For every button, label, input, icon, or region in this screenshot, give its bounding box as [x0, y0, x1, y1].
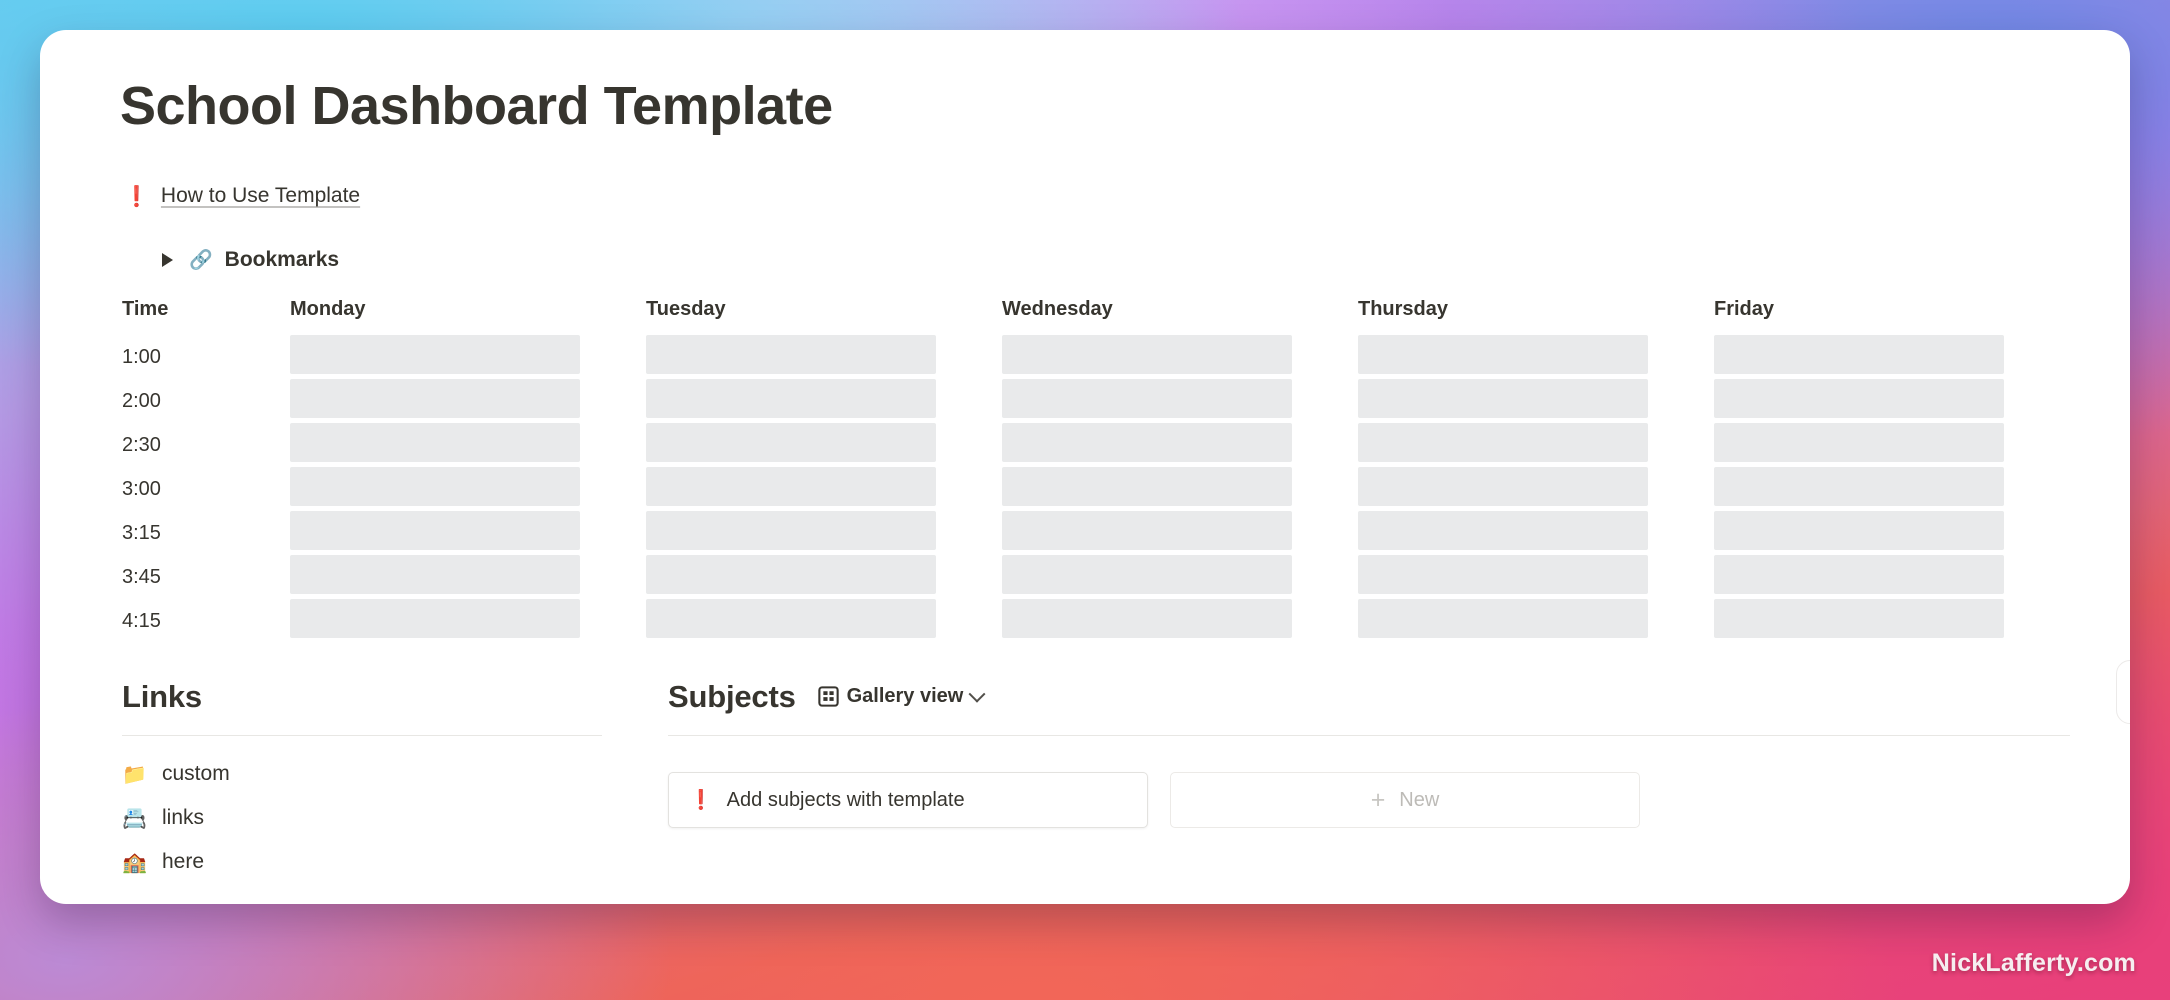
how-to-use-template-row[interactable]: ❗ How to Use Template	[124, 184, 2070, 208]
schedule-header-tuesday: Tuesday	[646, 298, 1002, 335]
schedule-time-label: 3:00	[122, 467, 290, 511]
schedule-time-label: 1:00	[122, 335, 290, 379]
schedule-cell[interactable]	[1358, 467, 1714, 511]
triangle-right-icon[interactable]	[162, 253, 173, 267]
schedule-time-label: 2:00	[122, 379, 290, 423]
schedule-cell[interactable]	[646, 379, 1002, 423]
schedule-table: TimeMondayTuesdayWednesdayThursdayFriday…	[122, 298, 2070, 643]
add-subjects-with-template-label: Add subjects with template	[727, 789, 965, 812]
schedule-time-label: 4:15	[122, 599, 290, 643]
schedule-header-monday: Monday	[290, 298, 646, 335]
schedule-time-label: 3:45	[122, 555, 290, 599]
folder-emoji: 📁	[122, 764, 146, 784]
link-emoji: 🔗	[189, 251, 213, 270]
exclamation-mark-emoji: ❗	[124, 186, 149, 206]
schedule-cell[interactable]	[1714, 423, 2070, 467]
new-subject-button[interactable]: + New	[1170, 772, 1640, 828]
schedule-cell[interactable]	[290, 467, 646, 511]
schedule-cell[interactable]	[290, 379, 646, 423]
schedule-cell[interactable]	[1714, 511, 2070, 555]
schedule-cell[interactable]	[1002, 467, 1358, 511]
schedule-cell[interactable]	[1002, 555, 1358, 599]
page-title: School Dashboard Template	[120, 66, 2070, 136]
schedule-cell[interactable]	[290, 423, 646, 467]
schedule-cell[interactable]	[1714, 467, 2070, 511]
bookmarks-toggle-row[interactable]: 🔗 Bookmarks	[162, 248, 2070, 272]
edge-control-nub[interactable]	[2116, 660, 2130, 724]
gallery-view-selector[interactable]: Gallery view	[814, 683, 988, 710]
schedule-header-wednesday: Wednesday	[1002, 298, 1358, 335]
schedule-cell[interactable]	[1714, 555, 2070, 599]
links-list: 📁custom📇links🏫here	[122, 752, 602, 884]
watermark: NickLafferty.com	[1932, 949, 2136, 978]
bookmarks-label: Bookmarks	[225, 248, 339, 272]
schedule-cell[interactable]	[1714, 379, 2070, 423]
how-to-use-template-link[interactable]: How to Use Template	[161, 184, 360, 208]
schedule-cell[interactable]	[1358, 511, 1714, 555]
subjects-divider	[668, 735, 2070, 736]
link-list-item[interactable]: 📇links	[122, 796, 602, 840]
chevron-down-icon[interactable]	[969, 686, 986, 703]
link-list-item-label: links	[162, 806, 204, 830]
schedule-cell[interactable]	[1358, 379, 1714, 423]
link-list-item[interactable]: 📁custom	[122, 752, 602, 796]
schedule-cell[interactable]	[1002, 423, 1358, 467]
link-list-item-label: here	[162, 850, 204, 874]
subjects-cards-row: ❗ Add subjects with template + New	[668, 772, 2070, 828]
schedule-cell[interactable]	[1714, 335, 2070, 379]
gallery-grid-icon	[818, 686, 839, 707]
schedule-cell[interactable]	[290, 555, 646, 599]
schedule-time-label: 3:15	[122, 511, 290, 555]
links-heading: Links	[122, 679, 602, 715]
schedule-cell[interactable]	[646, 555, 1002, 599]
schedule-cell[interactable]	[646, 467, 1002, 511]
schedule-cell[interactable]	[646, 511, 1002, 555]
schedule-cell[interactable]	[1002, 511, 1358, 555]
schedule-cell[interactable]	[290, 599, 646, 643]
schedule-cell[interactable]	[1002, 335, 1358, 379]
schedule-header-friday: Friday	[1714, 298, 2070, 335]
link-list-item-label: custom	[162, 762, 230, 786]
schedule-cell[interactable]	[1358, 335, 1714, 379]
gallery-view-label: Gallery view	[847, 685, 964, 708]
schedule-cell[interactable]	[1002, 379, 1358, 423]
schedule-cell[interactable]	[1358, 423, 1714, 467]
schedule-cell[interactable]	[1002, 599, 1358, 643]
schedule-cell[interactable]	[1358, 599, 1714, 643]
exclamation-mark-emoji: ❗	[689, 791, 713, 810]
schedule-cell[interactable]	[646, 599, 1002, 643]
schedule-header-thursday: Thursday	[1358, 298, 1714, 335]
schedule-cell[interactable]	[1714, 599, 2070, 643]
schedule-time-label: 2:30	[122, 423, 290, 467]
new-subject-label: New	[1399, 789, 1439, 812]
card-index-emoji: 📇	[122, 808, 146, 828]
schedule-cell[interactable]	[290, 511, 646, 555]
schedule-cell[interactable]	[646, 335, 1002, 379]
document-card: School Dashboard Template ❗ How to Use T…	[40, 30, 2130, 904]
add-subjects-with-template-card[interactable]: ❗ Add subjects with template	[668, 772, 1148, 828]
subjects-section: Subjects Gallery view	[668, 679, 2070, 884]
schedule-header-time: Time	[122, 298, 290, 335]
schedule-cell[interactable]	[1358, 555, 1714, 599]
schedule-cell[interactable]	[646, 423, 1002, 467]
links-section: Links 📁custom📇links🏫here	[122, 679, 602, 884]
subjects-heading: Subjects	[668, 679, 796, 715]
plus-icon: +	[1371, 788, 1386, 813]
schedule-cell[interactable]	[290, 335, 646, 379]
links-divider	[122, 735, 602, 736]
school-emoji: 🏫	[122, 852, 146, 872]
link-list-item[interactable]: 🏫here	[122, 840, 602, 884]
